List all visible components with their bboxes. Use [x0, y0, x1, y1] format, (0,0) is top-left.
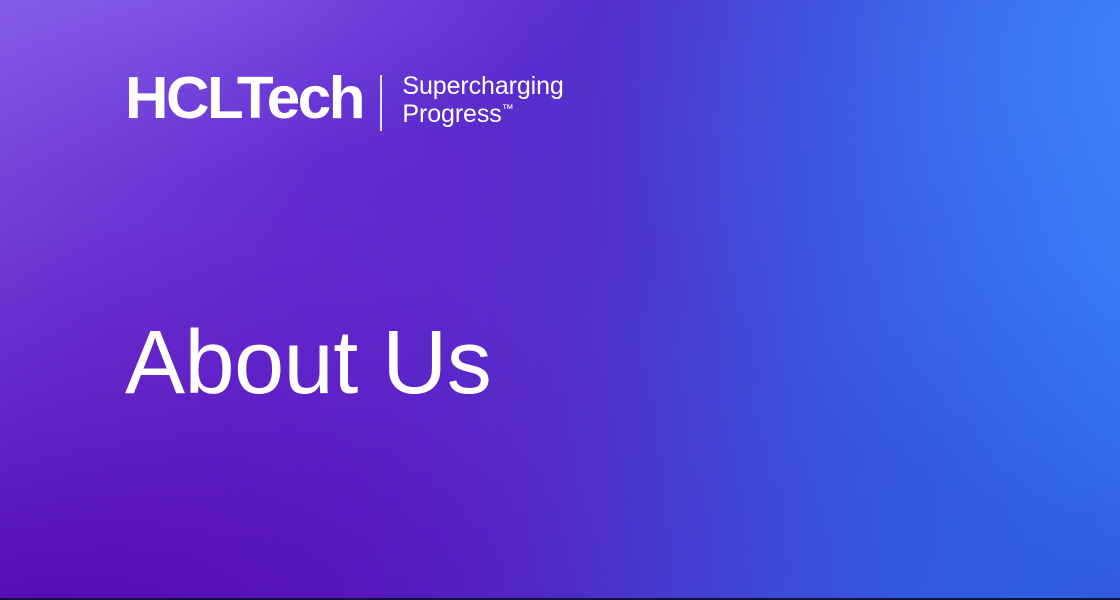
trademark-icon: ™ — [502, 102, 514, 116]
hcltech-wordmark: HCLTech — [125, 66, 363, 130]
tagline-line-1: Supercharging — [402, 72, 563, 100]
logo-tagline: Supercharging Progress™ — [402, 72, 563, 128]
tagline-line-2: Progress™ — [402, 100, 563, 128]
tagline-line-2-text: Progress — [402, 100, 501, 128]
title-slide: HCLTech Supercharging Progress™ About Us — [0, 0, 1120, 600]
page-title: About Us — [125, 313, 491, 413]
hcltech-logo-lockup[interactable]: HCLTech Supercharging Progress™ — [125, 66, 564, 131]
logo-divider-icon — [380, 75, 382, 131]
